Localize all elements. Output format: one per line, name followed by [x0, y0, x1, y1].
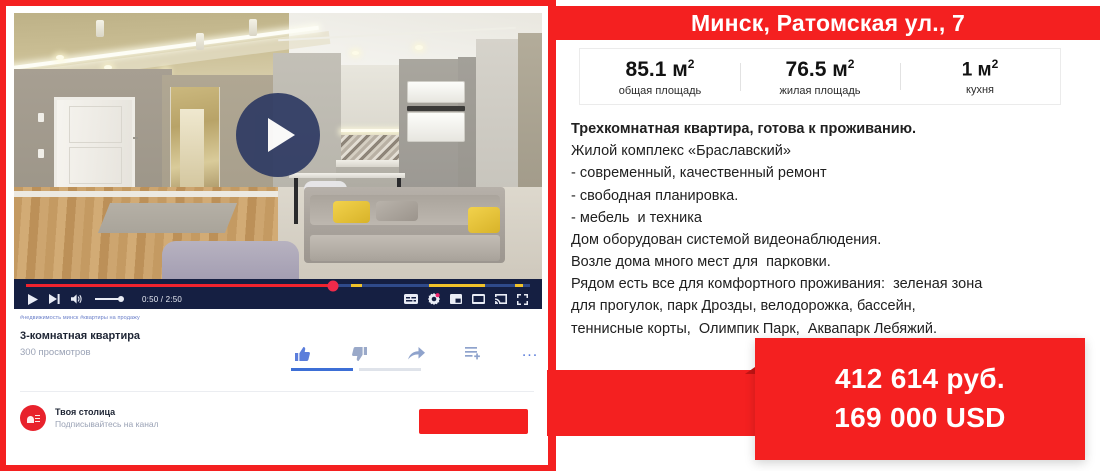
share-button[interactable]: [405, 347, 427, 360]
stats-row: 85.1 м2 общая площадь 76.5 м2 жилая площ…: [579, 48, 1061, 105]
like-ratio-empty: [359, 368, 421, 371]
time-display: 0:50 / 2:50: [142, 295, 182, 304]
stat-total-area-label: общая площадь: [580, 85, 740, 97]
like-icon: [295, 347, 310, 361]
listing-description: Трехкомнатная квартира, готова к прожива…: [571, 118, 1091, 340]
stat-total-area-sup: 2: [688, 57, 695, 71]
more-actions-button[interactable]: ...: [519, 347, 541, 357]
like-ratio-bar: [291, 368, 411, 371]
cushion-yellow-1: [333, 201, 370, 223]
oven-control-strip: [407, 106, 465, 111]
next-track-icon[interactable]: [49, 294, 60, 304]
subtitles-icon[interactable]: [404, 294, 418, 304]
desc-line-8: для прогулок, парк Дрозды, велодорожка, …: [571, 295, 1091, 317]
channel-text: Твоя столица Подписывайтесь на канал: [55, 407, 159, 429]
stat-kitchen: 1 м2 кухня: [900, 57, 1060, 96]
progress-bar-played: [26, 284, 333, 287]
dislike-button[interactable]: [348, 347, 370, 361]
section-divider: [20, 391, 534, 392]
stat-total-area-value: 85.1 м2: [580, 57, 740, 82]
volume-slider[interactable]: [95, 298, 122, 300]
video-player[interactable]: 0:50 / 2:50: [14, 13, 542, 309]
channel-subtitle: Подписывайтесь на канал: [55, 419, 159, 429]
theater-mode-icon[interactable]: [472, 294, 485, 304]
youtube-card: 0:50 / 2:50: [6, 6, 548, 465]
volume-icon[interactable]: [71, 294, 82, 304]
oven: [407, 112, 465, 142]
light-switch-upper: [38, 113, 44, 122]
save-button[interactable]: [462, 347, 484, 360]
desc-line-4: - мебель и техника: [571, 207, 1091, 229]
save-to-playlist-icon: [465, 347, 481, 360]
microwave: [407, 81, 465, 103]
play-icon: [268, 118, 295, 152]
desc-line-0: Трехкомнатная квартира, готова к прожива…: [571, 118, 1091, 140]
youtube-card-frame: 0:50 / 2:50: [0, 0, 556, 471]
light-switch-lower: [38, 149, 44, 158]
cushion-yellow-2: [468, 207, 500, 233]
stat-kitchen-number: 1 м: [962, 59, 992, 80]
stat-living-area-label: жилая площадь: [740, 85, 900, 97]
more-icon: ...: [522, 347, 538, 357]
desc-line-9: теннисные корты, Олимпик Парк, Аквапарк …: [571, 318, 1091, 340]
desc-line-7: Рядом есть все для комфортного проживани…: [571, 273, 1091, 295]
stat-living-area-value: 76.5 м2: [740, 57, 900, 82]
stat-living-area-number: 76.5 м: [786, 58, 848, 81]
channel-name: Твоя столица: [55, 407, 159, 417]
entry-door: [54, 97, 136, 191]
video-action-row: ...: [291, 347, 541, 361]
desc-line-1: Жилой комплекс «Браславский»: [571, 140, 1091, 162]
progress-bar-track[interactable]: [26, 284, 530, 287]
sofa-seat: [310, 235, 500, 261]
settings-gear-icon[interactable]: [428, 293, 440, 305]
desc-line-2: - современный, качественный ремонт: [571, 162, 1091, 184]
chapter-marker-3: [515, 284, 523, 287]
like-button[interactable]: [291, 347, 313, 361]
entry-floor-tile: [98, 203, 237, 233]
stat-total-area: 85.1 м2 общая площадь: [580, 57, 740, 97]
price-byn: 412 614 руб.: [835, 360, 1005, 399]
ceiling-tube-light-2: [196, 33, 204, 50]
player-controls: 0:50 / 2:50: [14, 279, 542, 309]
mirror-reflection-door: [180, 109, 204, 189]
baseboard: [14, 191, 278, 197]
address-banner: Минск, Ратомская ул., 7: [556, 6, 1100, 40]
subscribe-button[interactable]: [419, 409, 528, 434]
video-title: 3-комнатная квартира: [20, 330, 548, 342]
apartment-interior-photo: [14, 13, 542, 279]
stat-kitchen-value: 1 м2: [900, 57, 1060, 81]
desc-line-3: - свободная планировка.: [571, 185, 1091, 207]
stat-kitchen-label: кухня: [900, 84, 1060, 96]
play-icon[interactable]: [28, 294, 38, 305]
ceiling-spot-5: [352, 51, 359, 55]
listing-banner: 0:50 / 2:50: [0, 0, 1100, 471]
ceiling-tube-light-1: [96, 20, 104, 37]
dislike-icon: [352, 347, 367, 361]
stat-total-area-number: 85.1 м: [626, 58, 688, 81]
cushion-gray-1: [376, 201, 418, 221]
armchair: [162, 241, 299, 279]
video-tags[interactable]: #недвижимость минск #квартиры на продажу: [20, 315, 548, 321]
like-ratio-filled: [291, 368, 353, 371]
dining-table-top: [289, 173, 405, 178]
chapter-marker-1: [351, 284, 362, 287]
share-icon: [408, 347, 425, 360]
fullscreen-icon[interactable]: [517, 294, 528, 305]
play-button-overlay[interactable]: [236, 93, 320, 177]
cast-icon[interactable]: [495, 294, 507, 304]
channel-logo-icon: [27, 413, 40, 424]
stat-kitchen-sup: 2: [992, 57, 999, 71]
door-handle: [133, 137, 138, 139]
progress-scrubber[interactable]: [328, 280, 339, 291]
chapter-marker-2: [429, 284, 484, 287]
price-box: 412 614 руб. 169 000 USD: [755, 338, 1085, 460]
dining-table-leg-left: [294, 178, 298, 224]
channel-avatar[interactable]: [20, 405, 46, 431]
channel-row[interactable]: Твоя столица Подписывайтесь на канал: [20, 405, 159, 431]
miniplayer-icon[interactable]: [450, 294, 462, 304]
stat-living-area-sup: 2: [848, 57, 855, 71]
desc-line-5: Дом оборудован системой видеонаблюдения.: [571, 229, 1091, 251]
ceiling-tube-light-3: [249, 19, 257, 36]
stat-living-area: 76.5 м2 жилая площадь: [740, 57, 900, 97]
desc-line-6: Возле дома много мест для парковки.: [571, 251, 1091, 273]
price-usd: 169 000 USD: [834, 399, 1005, 438]
